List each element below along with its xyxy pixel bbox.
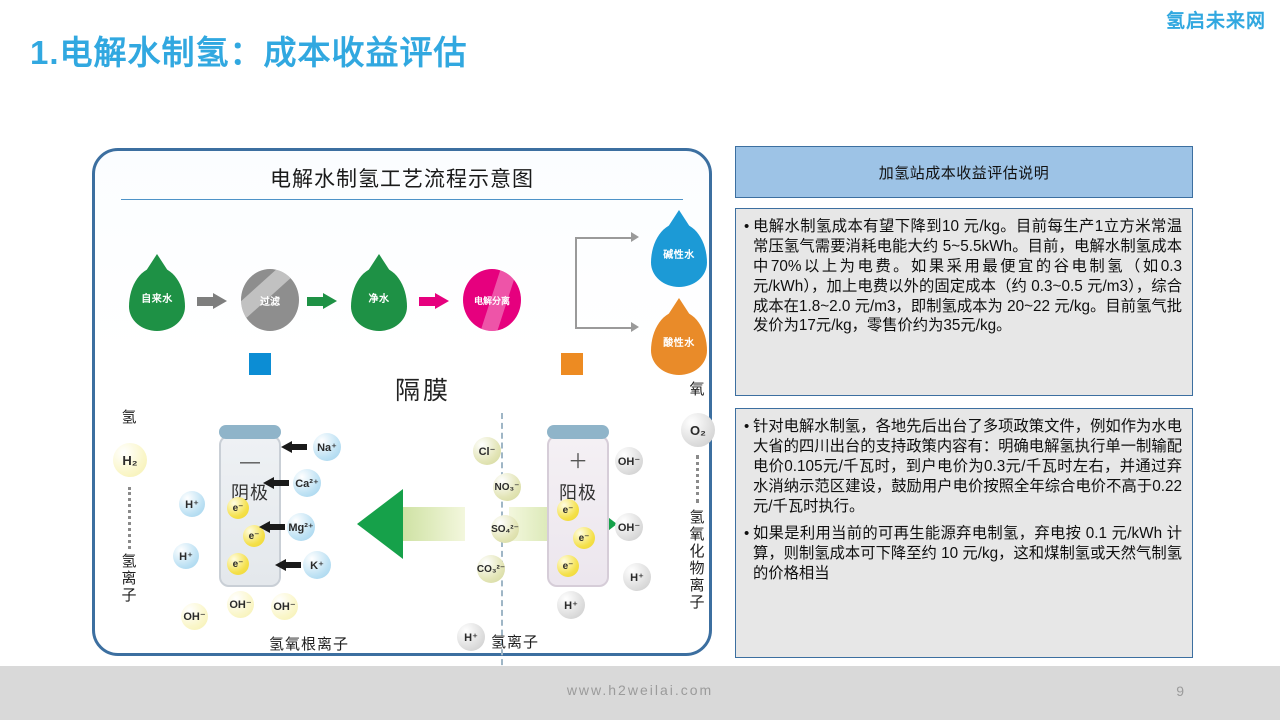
site-brand-logo: 氢启未来网 (1166, 6, 1266, 33)
anode-proton-2: H⁺ (557, 591, 585, 619)
anode-ion-co3: CO₃²⁻ (477, 555, 505, 583)
bullet-item: • 如果是利用当前的可再生能源弃电制氢，弃电按 0.1 元/kWh 计算，则制氢… (744, 524, 1182, 584)
diagram-title-divider (121, 199, 683, 200)
flow-node-filter: 过滤 (241, 269, 299, 331)
flow-node-electrolysis-label: 电解分离 (474, 294, 510, 307)
diagram-title: 电解水制氢工艺流程示意图 (95, 163, 709, 193)
panel-textbox-policy: • 针对电解水制氢，各地先后出台了多项政策文件，例如作为水电大省的四川出台的支持… (735, 408, 1193, 658)
cathode-side-dotline (128, 487, 134, 549)
bullet-dot: • (744, 217, 753, 336)
anode-side-dotline (696, 455, 702, 503)
anode-proton-label: 氢离子 (491, 631, 539, 652)
flow-output-alkaline-water-label: 碱性水 (663, 250, 695, 261)
cathode-hydroxide-2: OH⁻ (227, 591, 254, 618)
anode-side-label-hydroxide: 氢氧化物离子 (687, 509, 704, 611)
bullet-text: 针对电解水制氢，各地先后出台了多项政策文件，例如作为水电大省的四川出台的支持政策… (753, 417, 1182, 516)
flow-node-pure-water: 净水 (351, 267, 407, 331)
page-title: 1.电解水制氢：成本收益评估 (30, 26, 468, 74)
diagram-frame: 电解水制氢工艺流程示意图 自来水 过滤 净水 电解分离 (92, 148, 712, 656)
anode-electron-2: e⁻ (573, 527, 595, 549)
anode-color-marker (561, 353, 583, 375)
footer-page-number: 9 (1176, 683, 1184, 699)
cathode-migration-arrow-3 (259, 521, 285, 533)
cathode-electron-1: e⁻ (227, 497, 249, 519)
bullet-dot: • (744, 417, 753, 516)
flow-output-alkaline-water: 碱性水 (651, 223, 707, 287)
cathode-ion-h-1: H⁺ (179, 491, 205, 517)
process-diagram-card: 电解水制氢工艺流程示意图 自来水 过滤 净水 电解分离 (82, 144, 722, 666)
bullet-item: • 针对电解水制氢，各地先后出台了多项政策文件，例如作为水电大省的四川出台的支持… (744, 417, 1182, 516)
panel-textbox-cost: • 电解水制氢成本有望下降到10 元/kg。目前每生产1立方米常温常压氢气需要消… (735, 208, 1193, 396)
cathode-ion-k: K⁺ (303, 551, 331, 579)
anode-hydroxide-2: OH⁻ (615, 513, 643, 541)
cathode-migration-arrow-2 (263, 477, 289, 489)
ion-flow-arrow-left (357, 489, 465, 559)
membrane-label: 隔膜 (395, 371, 451, 407)
flow-node-pure-water-label: 净水 (369, 294, 390, 305)
bullet-text: 如果是利用当前的可再生能源弃电制氢，弃电按 0.1 元/kWh 计算，则制氢成本… (753, 524, 1182, 584)
cathode-hydroxide-3: OH⁻ (271, 593, 298, 620)
footer-website-url: www.h2weilai.com (0, 682, 1280, 698)
bullet-item: • 电解水制氢成本有望下降到10 元/kg。目前每生产1立方米常温常压氢气需要消… (744, 217, 1182, 336)
cathode-ion-h-2: H⁺ (173, 543, 199, 569)
electrolysis-cell-illustration: 隔膜 — 阴极 e⁻ e⁻ e⁻ H⁺ H⁺ Na⁺ Ca²⁺ Mg²⁺ K⁺ (109, 351, 695, 645)
panel-header: 加氢站成本收益评估说明 (735, 146, 1193, 198)
cathode-electron-3: e⁻ (227, 553, 249, 575)
cathode-ion-mg: Mg²⁺ (287, 513, 315, 541)
cathode-side-label-hydrogen: 氢 (119, 409, 136, 426)
anode-sign: ＋ (568, 457, 588, 467)
cathode-ion-na: Na⁺ (313, 433, 341, 461)
cathode-cap (219, 425, 281, 439)
anode-ion-cl: Cl⁻ (473, 437, 501, 465)
bullet-dot: • (744, 524, 753, 584)
slide-footer: www.h2weilai.com 9 (0, 666, 1280, 720)
anode-side-label-oxygen: 氧 (687, 381, 704, 398)
cathode-migration-arrow-4 (275, 559, 301, 571)
cathode-hydroxide-1: OH⁻ (181, 603, 208, 630)
cathode-sign: — (240, 457, 260, 467)
cathode-side-label-hydrogen-ion: 氢离子 (119, 553, 136, 604)
process-flow-row: 自来水 过滤 净水 电解分离 (123, 221, 707, 351)
flow-node-electrolysis: 电解分离 (463, 269, 521, 331)
flow-node-tap-water-label: 自来水 (141, 294, 173, 305)
cathode-hydroxide-label: 氢氧根离子 (269, 633, 349, 654)
flow-output-acidic-water-label: 酸性水 (663, 338, 695, 349)
cathode-h2-bubble: H₂ (113, 443, 147, 477)
anode-proton-legend-bubble: H⁺ (457, 623, 485, 651)
anode-proton-1: H⁺ (623, 563, 651, 591)
anode-electron-1: e⁻ (557, 499, 579, 521)
flow-arrow-1 (197, 293, 227, 309)
anode-electron-3: e⁻ (557, 555, 579, 577)
flow-arrow-3 (419, 293, 449, 309)
flow-node-filter-label: 过滤 (260, 293, 280, 308)
flow-branch-connector (575, 227, 649, 339)
anode-hydroxide-1: OH⁻ (615, 447, 643, 475)
anode-cap (547, 425, 609, 439)
flow-node-tap-water: 自来水 (129, 267, 185, 331)
cathode-migration-arrow-1 (281, 441, 307, 453)
bullet-text: 电解水制氢成本有望下降到10 元/kg。目前每生产1立方米常温常压氢气需要消耗电… (753, 217, 1182, 336)
anode-o2-bubble: O₂ (681, 413, 715, 447)
cathode-ion-ca: Ca²⁺ (293, 469, 321, 497)
anode-ion-no3: NO₃⁻ (493, 473, 521, 501)
cathode-color-marker (249, 353, 271, 375)
anode-ion-so4: SO₄²⁻ (491, 515, 519, 543)
flow-arrow-2 (307, 293, 337, 309)
